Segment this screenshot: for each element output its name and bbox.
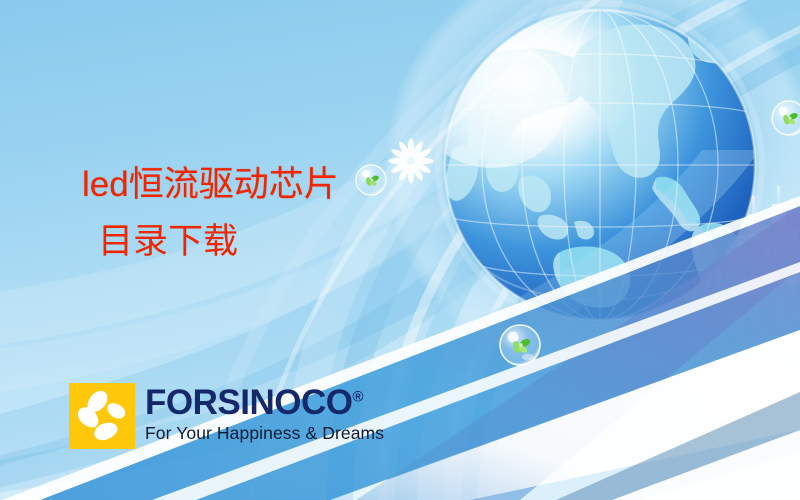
logo-wordmark: FORSINOCO® — [145, 385, 384, 420]
registered-trademark-icon: ® — [352, 388, 363, 405]
bubble-green-pinwheel-3 — [772, 101, 800, 135]
headline-line-2: 目录下载 — [98, 220, 339, 265]
white-daisy-flower — [389, 139, 434, 184]
headline-line-1: led恒流驱动芯片 — [82, 163, 339, 208]
banner-canvas: led恒流驱动芯片 目录下载 FORSINOCO® For Your Ha — [0, 0, 800, 500]
skyline-light-streak — [620, 266, 800, 336]
city-skyline-silhouette — [705, 186, 798, 326]
globe-parallels — [446, 54, 754, 276]
pinwheel-petals-icon — [69, 383, 135, 449]
logo-text-block: FORSINOCO® For Your Happiness & Dreams — [145, 383, 384, 443]
bubble-green-pinwheel-2 — [500, 325, 540, 365]
globe-meridians — [482, 10, 718, 320]
globe-halo — [385, 0, 800, 380]
earth-globe — [402, 0, 762, 345]
headline-text: led恒流驱动芯片 目录下载 — [82, 163, 339, 265]
logo-tagline: For Your Happiness & Dreams — [145, 425, 384, 443]
company-logo[interactable]: FORSINOCO® For Your Happiness & Dreams — [69, 383, 384, 449]
bubble-green-pinwheel-1 — [356, 165, 386, 195]
logo-wordmark-text: FORSINOCO — [145, 383, 352, 422]
pinwheel-flower-mark — [69, 383, 135, 449]
globe-landmasses — [446, 23, 744, 345]
